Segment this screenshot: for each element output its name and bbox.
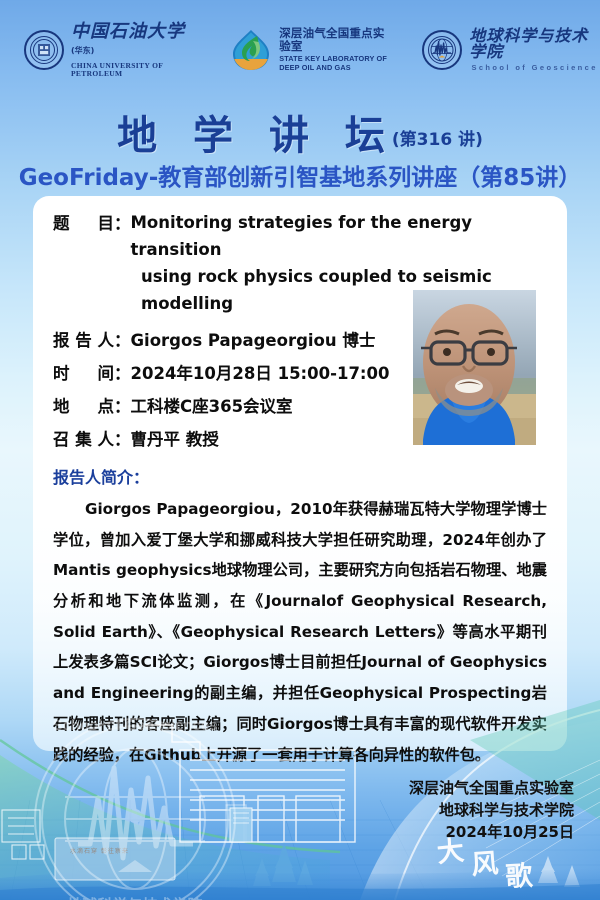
school-name-cn: 地球科学与技术学院	[469, 28, 600, 60]
school-seal-icon	[422, 30, 462, 70]
watermark-en-label: School of Geosciences	[52, 717, 217, 734]
lab-name-en-line2: DEEP OIL AND GAS	[279, 64, 388, 72]
topic-label: 题 目：	[53, 210, 131, 234]
lab-logo-text: 深层油气全国重点实验室 STATE KEY LABORATORY OF DEEP…	[279, 28, 388, 72]
topic-row: 题 目： Monitoring strategies for the energ…	[53, 210, 547, 263]
svg-text:大: 大	[435, 835, 465, 869]
footer-line-lab: 深层油气全国重点实验室	[409, 777, 574, 799]
bio-heading: 报告人简介：	[53, 464, 547, 488]
header-logo-bar: 中国石油大学(华东) CHINA UNIVERSITY OF PETROLEUM…	[0, 26, 600, 74]
logo-school-of-geoscience: 地球科学与技术学院 School of Geoscience	[422, 28, 600, 72]
lab-name-en-line1: STATE KEY LABORATORY OF	[279, 55, 388, 63]
university-logo-text: 中国石油大学(华东) CHINA UNIVERSITY OF PETROLEUM	[71, 23, 195, 77]
page-title-issue: (第316 讲)	[392, 130, 483, 150]
university-campus-cn: (华东)	[71, 46, 94, 55]
university-name-cn: 中国石油大学(华东)	[71, 23, 195, 59]
svg-text:风: 风	[470, 848, 499, 881]
watermark-cn-label: 地球科学与技术学院	[67, 896, 202, 900]
info-card: 题 目： Monitoring strategies for the energ…	[33, 196, 567, 751]
time-label: 时 间：	[53, 360, 131, 384]
place-label: 地 点：	[53, 393, 131, 417]
university-seal-icon	[24, 30, 64, 70]
school-logo-text: 地球科学与技术学院 School of Geoscience	[469, 28, 600, 72]
host-label: 召 集 人：	[53, 426, 131, 450]
school-watermark-icon: School of Geosciences 地球科学与技术学院	[28, 712, 243, 900]
calligraphy-dafengge: 大 风 歌	[432, 832, 572, 890]
footer-line-school: 地球科学与技术学院	[409, 799, 574, 821]
page-title-main: 地 学 讲 坛	[117, 113, 396, 159]
school-name-en: School of Geoscience	[469, 64, 600, 72]
logo-china-university-of-petroleum: 中国石油大学(华东) CHINA UNIVERSITY OF PETROLEUM	[24, 23, 195, 77]
page-title: 地 学 讲 坛(第316 讲)	[0, 103, 600, 161]
svg-text:歌: 歌	[505, 861, 535, 890]
flame-droplet-icon	[231, 29, 271, 71]
university-name-en: CHINA UNIVERSITY OF PETROLEUM	[71, 62, 195, 77]
page-subtitle: GeoFriday-教育部创新引智基地系列讲座（第85讲）	[0, 158, 600, 192]
speaker-photo	[413, 290, 536, 445]
poster-root: 中国石油大学(华东) CHINA UNIVERSITY OF PETROLEUM…	[0, 0, 600, 900]
logo-state-key-laboratory: 深层油气全国重点实验室 STATE KEY LABORATORY OF DEEP…	[231, 28, 388, 72]
speaker-label: 报 告 人：	[53, 327, 131, 351]
topic-value-line1: Monitoring strategies for the energy tra…	[131, 210, 548, 263]
lab-name-cn: 深层油气全国重点实验室	[279, 28, 388, 54]
